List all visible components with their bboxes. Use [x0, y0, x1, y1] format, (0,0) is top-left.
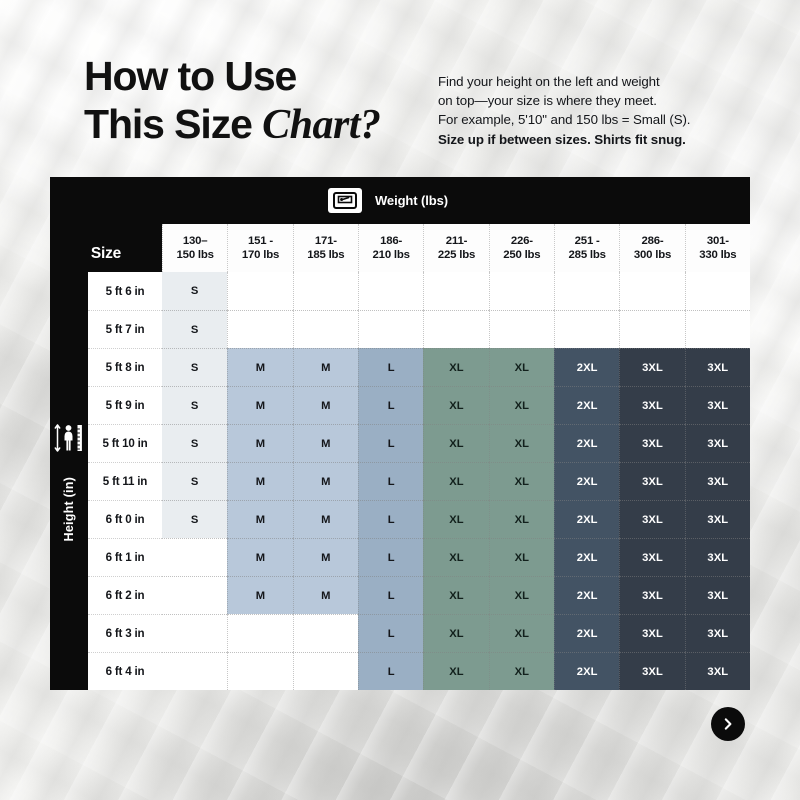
size-cell-2xl: 2XL [554, 348, 619, 386]
size-cell-3xl: 3XL [685, 348, 750, 386]
weight-range-top: 251 - [575, 235, 600, 247]
weight-axis-label: Weight (lbs) [375, 193, 448, 208]
size-cell-empty [619, 272, 684, 310]
size-cell-s: S [162, 348, 227, 386]
size-cell-2xl: 2XL [554, 462, 619, 500]
weight-axis-header: Weight (lbs) [162, 177, 750, 224]
size-cell-empty [619, 310, 684, 348]
weight-range-top: 186- [380, 235, 402, 247]
weight-range-top: 151 - [248, 235, 273, 247]
size-chart-table: Size Weight (lbs) 130–150 lbs151 -170 lb… [50, 177, 750, 690]
size-cell-empty [293, 652, 358, 690]
size-cell-3xl: 3XL [685, 576, 750, 614]
weight-range-top: 301- [707, 235, 729, 247]
weight-column-header-6: 226-250 lbs [489, 224, 554, 272]
size-cell-m: M [293, 538, 358, 576]
size-cell-2xl: 2XL [554, 652, 619, 690]
weight-column-header-7: 251 -285 lbs [554, 224, 619, 272]
size-cell-empty [162, 652, 227, 690]
size-cell-3xl: 3XL [685, 386, 750, 424]
weight-range-bottom: 300 lbs [634, 249, 671, 261]
size-cell-3xl: 3XL [619, 500, 684, 538]
weight-range-bottom: 185 lbs [307, 249, 344, 261]
height-label-7: 6 ft 0 in [88, 500, 162, 538]
size-cell-xl: XL [423, 500, 488, 538]
size-cell-3xl: 3XL [619, 424, 684, 462]
weight-range-bottom: 210 lbs [373, 249, 410, 261]
size-cell-empty [293, 614, 358, 652]
height-label-9: 6 ft 2 in [88, 576, 162, 614]
height-label-1: 5 ft 6 in [88, 272, 162, 310]
size-cell-m: M [227, 348, 292, 386]
size-cell-xl: XL [489, 614, 554, 652]
weight-range-bottom: 150 lbs [177, 249, 214, 261]
instructions-line-4: Size up if between sizes. Shirts fit snu… [438, 130, 738, 149]
weight-column-header-1: 130–150 lbs [162, 224, 227, 272]
size-cell-2xl: 2XL [554, 500, 619, 538]
size-cell-l: L [358, 614, 423, 652]
size-cell-empty [162, 576, 227, 614]
size-cell-3xl: 3XL [619, 538, 684, 576]
height-label-3: 5 ft 8 in [88, 348, 162, 386]
size-cell-xl: XL [489, 538, 554, 576]
size-cell-l: L [358, 424, 423, 462]
size-cell-m: M [227, 424, 292, 462]
size-cell-empty [293, 272, 358, 310]
instructions-line-3: For example, 5'10" and 150 lbs = Small (… [438, 110, 738, 129]
size-cell-l: L [358, 348, 423, 386]
size-cell-3xl: 3XL [619, 462, 684, 500]
page-title-line-2-plain: This Size [84, 101, 262, 147]
page-title: How to Use This Size Chart? [84, 56, 381, 146]
size-cell-s: S [162, 310, 227, 348]
size-cell-3xl: 3XL [619, 386, 684, 424]
size-cell-empty [358, 310, 423, 348]
weight-column-header-2: 151 -170 lbs [227, 224, 292, 272]
weight-column-header-8: 286-300 lbs [619, 224, 684, 272]
person-height-icon [54, 421, 84, 455]
weight-range-bottom: 285 lbs [569, 249, 606, 261]
size-cell-xl: XL [489, 500, 554, 538]
size-cell-3xl: 3XL [685, 462, 750, 500]
weight-range-top: 211- [446, 235, 467, 247]
size-cell-empty [685, 310, 750, 348]
weight-range-bottom: 225 lbs [438, 249, 475, 261]
size-cell-s: S [162, 386, 227, 424]
size-cell-xl: XL [489, 348, 554, 386]
weight-range-top: 226- [511, 235, 533, 247]
weight-range-bottom: 330 lbs [699, 249, 736, 261]
height-axis-header: Height (in) [50, 272, 88, 690]
size-cell-l: L [358, 576, 423, 614]
size-cell-m: M [293, 386, 358, 424]
size-cell-empty [554, 310, 619, 348]
size-cell-m: M [293, 500, 358, 538]
size-cell-m: M [227, 500, 292, 538]
height-label-4: 5 ft 9 in [88, 386, 162, 424]
size-cell-xl: XL [423, 462, 488, 500]
size-cell-3xl: 3XL [685, 424, 750, 462]
size-chart-grid: Size Weight (lbs) 130–150 lbs151 -170 lb… [50, 177, 750, 690]
size-cell-l: L [358, 538, 423, 576]
weight-range-top: 171- [315, 235, 337, 247]
size-header-label: Size [91, 245, 121, 263]
size-cell-empty [685, 272, 750, 310]
weight-column-header-3: 171-185 lbs [293, 224, 358, 272]
size-cell-3xl: 3XL [685, 538, 750, 576]
size-cell-m: M [227, 538, 292, 576]
size-cell-xl: XL [423, 348, 488, 386]
size-cell-2xl: 2XL [554, 424, 619, 462]
size-cell-m: M [227, 386, 292, 424]
size-cell-m: M [293, 576, 358, 614]
size-cell-empty [162, 538, 227, 576]
instructions-line-1: Find your height on the left and weight [438, 72, 738, 91]
height-label-5: 5 ft 10 in [88, 424, 162, 462]
size-cell-3xl: 3XL [619, 348, 684, 386]
size-cell-2xl: 2XL [554, 576, 619, 614]
size-cell-empty [227, 614, 292, 652]
size-cell-empty [554, 272, 619, 310]
next-button[interactable] [711, 707, 745, 741]
size-cell-m: M [293, 348, 358, 386]
size-cell-empty [227, 652, 292, 690]
size-cell-empty [227, 272, 292, 310]
size-cell-m: M [227, 576, 292, 614]
height-label-10: 6 ft 3 in [88, 614, 162, 652]
weight-column-header-4: 186-210 lbs [358, 224, 423, 272]
size-cell-3xl: 3XL [685, 652, 750, 690]
height-label-2: 5 ft 7 in [88, 310, 162, 348]
weight-range-top: 286- [641, 235, 663, 247]
size-cell-s: S [162, 424, 227, 462]
size-cell-m: M [227, 462, 292, 500]
size-cell-l: L [358, 652, 423, 690]
instructions-text: Find your height on the left and weight … [438, 72, 738, 149]
size-header-cell: Size [50, 177, 162, 272]
size-cell-xl: XL [489, 424, 554, 462]
page-title-line-2: This Size Chart? [84, 104, 381, 146]
size-cell-2xl: 2XL [554, 614, 619, 652]
instructions-line-2: on top—your size is where they meet. [438, 91, 738, 110]
size-cell-3xl: 3XL [619, 614, 684, 652]
size-cell-empty [489, 310, 554, 348]
size-cell-xl: XL [423, 424, 488, 462]
chevron-right-icon [721, 717, 735, 731]
size-cell-empty [293, 310, 358, 348]
page-title-line-1: How to Use [84, 56, 381, 97]
size-cell-xl: XL [489, 462, 554, 500]
height-axis-label: Height (in) [62, 477, 76, 541]
size-cell-l: L [358, 462, 423, 500]
size-cell-xl: XL [423, 652, 488, 690]
size-cell-s: S [162, 462, 227, 500]
size-cell-3xl: 3XL [685, 500, 750, 538]
size-cell-empty [358, 272, 423, 310]
size-cell-xl: XL [489, 576, 554, 614]
weight-range-top: 130– [183, 235, 208, 247]
size-cell-empty [162, 614, 227, 652]
size-cell-xl: XL [423, 538, 488, 576]
size-cell-empty [423, 310, 488, 348]
weight-column-header-5: 211-225 lbs [423, 224, 488, 272]
size-cell-3xl: 3XL [619, 652, 684, 690]
size-cell-xl: XL [489, 652, 554, 690]
size-cell-empty [227, 310, 292, 348]
size-cell-xl: XL [423, 386, 488, 424]
size-cell-3xl: 3XL [619, 576, 684, 614]
scale-icon [328, 188, 362, 213]
size-cell-2xl: 2XL [554, 386, 619, 424]
size-cell-3xl: 3XL [685, 614, 750, 652]
size-cell-xl: XL [423, 614, 488, 652]
weight-range-bottom: 250 lbs [503, 249, 540, 261]
height-label-8: 6 ft 1 in [88, 538, 162, 576]
size-cell-xl: XL [489, 386, 554, 424]
weight-column-header-9: 301-330 lbs [685, 224, 750, 272]
weight-range-bottom: 170 lbs [242, 249, 279, 261]
size-cell-empty [489, 272, 554, 310]
size-cell-m: M [293, 424, 358, 462]
size-cell-s: S [162, 500, 227, 538]
size-cell-l: L [358, 386, 423, 424]
height-label-6: 5 ft 11 in [88, 462, 162, 500]
size-cell-s: S [162, 272, 227, 310]
size-cell-m: M [293, 462, 358, 500]
size-chart-page: How to Use This Size Chart? Find your he… [0, 0, 800, 800]
size-cell-l: L [358, 500, 423, 538]
size-cell-2xl: 2XL [554, 538, 619, 576]
size-cell-empty [423, 272, 488, 310]
page-title-emphasis: Chart? [262, 102, 380, 148]
height-label-11: 6 ft 4 in [88, 652, 162, 690]
size-cell-xl: XL [423, 576, 488, 614]
